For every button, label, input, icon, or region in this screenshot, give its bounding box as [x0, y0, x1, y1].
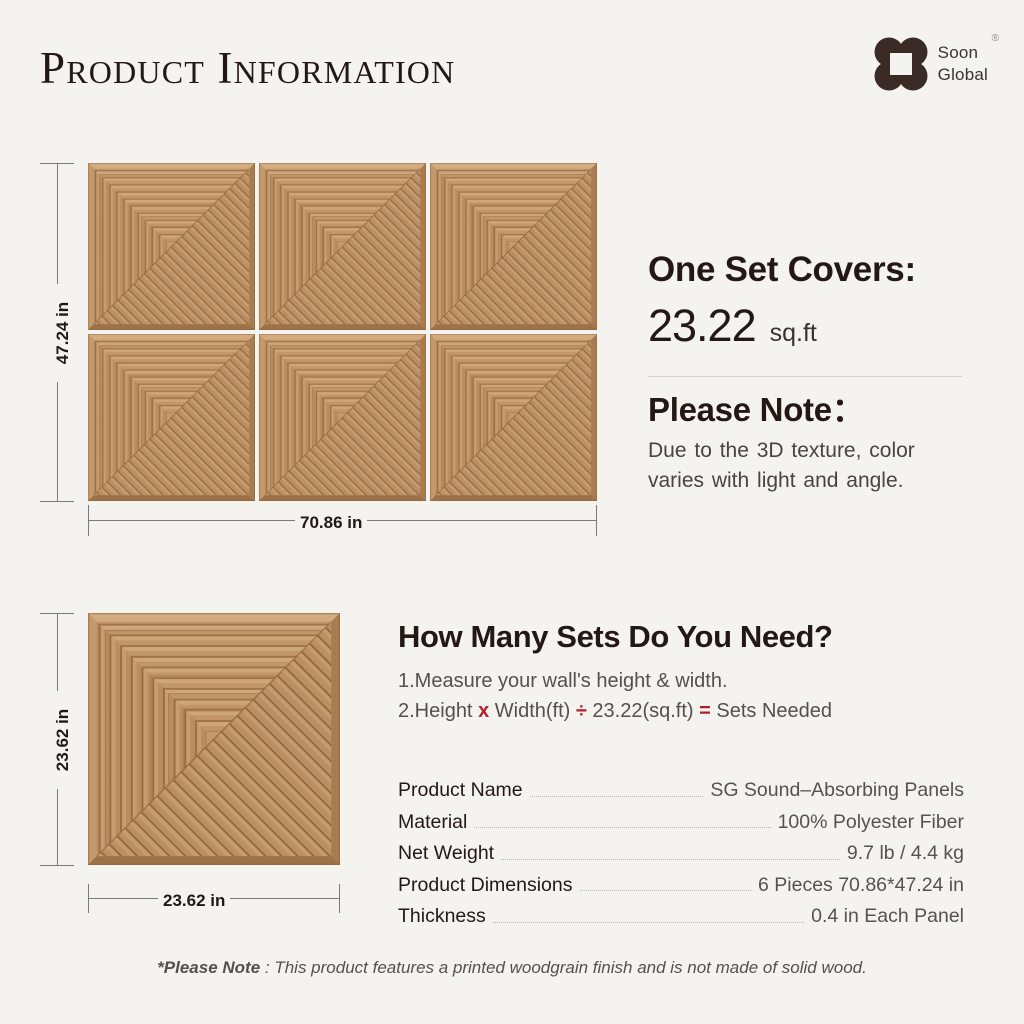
- spec-label: Net Weight: [398, 842, 494, 864]
- how-many-sets-title: How Many Sets Do You Need?: [398, 620, 968, 654]
- wood-panel-tile: [259, 163, 426, 330]
- leader-dots: [580, 889, 752, 891]
- spec-label: Product Dimensions: [398, 874, 573, 896]
- spec-row: Material 100% Polyester Fiber: [398, 802, 964, 834]
- sets-step-2-result: Sets Needed: [716, 700, 832, 722]
- single-width-cap-left: [88, 884, 89, 913]
- spec-label: Thickness: [398, 905, 486, 927]
- spec-row: Thickness 0.4 in Each Panel: [398, 896, 964, 928]
- page-title: Product Information: [40, 42, 455, 94]
- operator-equals: =: [699, 700, 711, 722]
- leader-dots: [530, 795, 704, 797]
- grid-width-cap-right: [596, 505, 597, 536]
- one-set-covers-unit: sq.ft: [770, 321, 817, 346]
- sets-step-2-prefix: 2.Height: [398, 700, 473, 722]
- brand-name: ® Soon Global: [938, 42, 988, 86]
- single-width-cap-right: [339, 884, 340, 913]
- grid-width-cap-left: [88, 505, 89, 536]
- grid-width-label: 70.86 in: [295, 510, 367, 536]
- one-set-covers-value: 23.22: [648, 303, 756, 348]
- spec-value: 0.4 in Each Panel: [811, 905, 964, 927]
- spec-value: SG Sound–Absorbing Panels: [710, 779, 964, 801]
- spec-row: Product Dimensions 6 Pieces 70.86*47.24 …: [398, 865, 964, 897]
- footer-emphasis: *Please Note: [157, 958, 260, 977]
- wood-panel-tile: [88, 163, 255, 330]
- single-height-label: 23.62 in: [50, 691, 76, 789]
- brand-line-2: Global: [938, 64, 988, 86]
- spec-value: 9.7 lb / 4.4 kg: [847, 842, 964, 864]
- one-set-covers-value-row: 23.22 sq.ft: [648, 303, 968, 348]
- spec-value: 6 Pieces 70.86*47.24 in: [758, 874, 964, 896]
- sets-step-1: 1.Measure your wall's height & width.: [398, 666, 968, 696]
- please-note-body: Due to the 3D texture, color varies with…: [648, 436, 978, 496]
- operator-multiply: x: [478, 700, 489, 722]
- wood-panel-tile: [88, 334, 255, 501]
- single-width-label: 23.62 in: [158, 888, 230, 914]
- leader-dots: [493, 921, 804, 923]
- wood-panel-single: [88, 613, 340, 865]
- sets-step-2: 2.Height x Width(ft) ÷ 23.22(sq.ft) = Se…: [398, 696, 968, 726]
- grid-height-cap-bottom: [40, 501, 74, 502]
- one-set-covers-block: One Set Covers: 23.22 sq.ft: [648, 252, 968, 348]
- spec-label: Product Name: [398, 779, 523, 801]
- grid-height-label: 47.24 in: [50, 284, 76, 382]
- footer-disclaimer: *Please Note : This product features a p…: [0, 958, 1024, 978]
- sets-step-2-area: 23.22(sq.ft): [592, 700, 693, 722]
- how-many-sets-block: How Many Sets Do You Need? 1.Measure you…: [398, 620, 968, 726]
- wood-panel-tile: [430, 334, 597, 501]
- operator-divide: ÷: [576, 700, 587, 722]
- footer-separator: :: [260, 958, 274, 977]
- leader-dots: [501, 858, 840, 860]
- brand-logo: ® Soon Global: [873, 36, 988, 92]
- specification-table: Product Name SG Sound–Absorbing Panels M…: [398, 770, 964, 928]
- single-height-cap-bottom: [40, 865, 74, 866]
- wood-panel-tile: [430, 163, 597, 330]
- please-note-block: Please Note： Due to the 3D texture, colo…: [648, 392, 978, 496]
- grid-height-cap-top: [40, 163, 74, 164]
- one-set-covers-title: One Set Covers:: [648, 252, 968, 287]
- wood-panel-tile: [259, 334, 426, 501]
- footer-text: This product features a printed woodgrai…: [274, 958, 867, 977]
- clover-four-circle-logo-icon: [873, 36, 929, 92]
- spec-label: Material: [398, 811, 467, 833]
- spec-row: Product Name SG Sound–Absorbing Panels: [398, 770, 964, 802]
- registered-trademark-icon: ®: [992, 33, 999, 44]
- spec-row: Net Weight 9.7 lb / 4.4 kg: [398, 833, 964, 865]
- sets-step-2-width: Width(ft): [495, 700, 571, 722]
- section-divider: [648, 376, 962, 377]
- brand-line-1: Soon: [938, 42, 988, 64]
- spec-value: 100% Polyester Fiber: [778, 811, 964, 833]
- single-height-cap-top: [40, 613, 74, 614]
- please-note-title: Please Note：: [648, 392, 978, 428]
- leader-dots: [474, 826, 770, 828]
